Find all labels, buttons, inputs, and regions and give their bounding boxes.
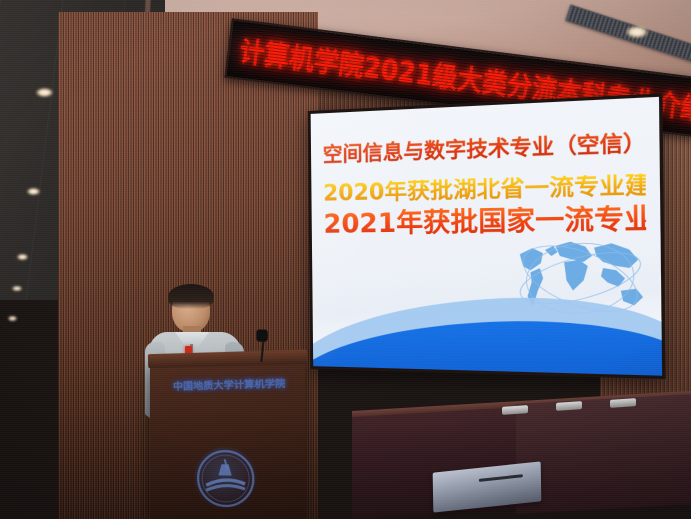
slide-subtitle-line-1: 2020年获批湖北省一流专业建设点 bbox=[323, 174, 646, 208]
downlight-icon bbox=[17, 254, 28, 260]
slide-text-block: 空间信息与数字技术专业（空信） 2020年获批湖北省一流专业建设点 2021年获… bbox=[311, 130, 661, 240]
podium-nameplate-text: 中国地质大学计算机学院 bbox=[173, 374, 286, 392]
downlight-icon bbox=[27, 188, 40, 195]
slide-title-line: 空间信息与数字技术专业（空信） bbox=[323, 131, 646, 166]
speaker-hair bbox=[168, 284, 214, 309]
microphone-icon bbox=[256, 329, 267, 341]
downlight-icon bbox=[36, 88, 53, 97]
slide-content: 空间信息与数字技术专业（空信） 2020年获批湖北省一流专业建设点 2021年获… bbox=[311, 97, 662, 376]
laptop-hinge bbox=[479, 474, 523, 482]
front-table-panel bbox=[516, 394, 691, 514]
downlight-icon bbox=[626, 26, 648, 38]
university-crest-icon bbox=[194, 447, 257, 511]
projection-screen: 空间信息与数字技术专业（空信） 2020年获批湖北省一流专业建设点 2021年获… bbox=[308, 93, 666, 379]
podium-nameplate: 中国地质大学计算机学院 bbox=[164, 370, 295, 396]
podium: 中国地质大学计算机学院 bbox=[150, 360, 305, 519]
downlight-icon bbox=[12, 286, 22, 291]
lecture-hall-photo: 计算机学院2021级大类分流本科专业介绍会 空间信息与数字技术专业（空信） 20… bbox=[0, 0, 691, 519]
downlight-icon bbox=[8, 316, 17, 321]
